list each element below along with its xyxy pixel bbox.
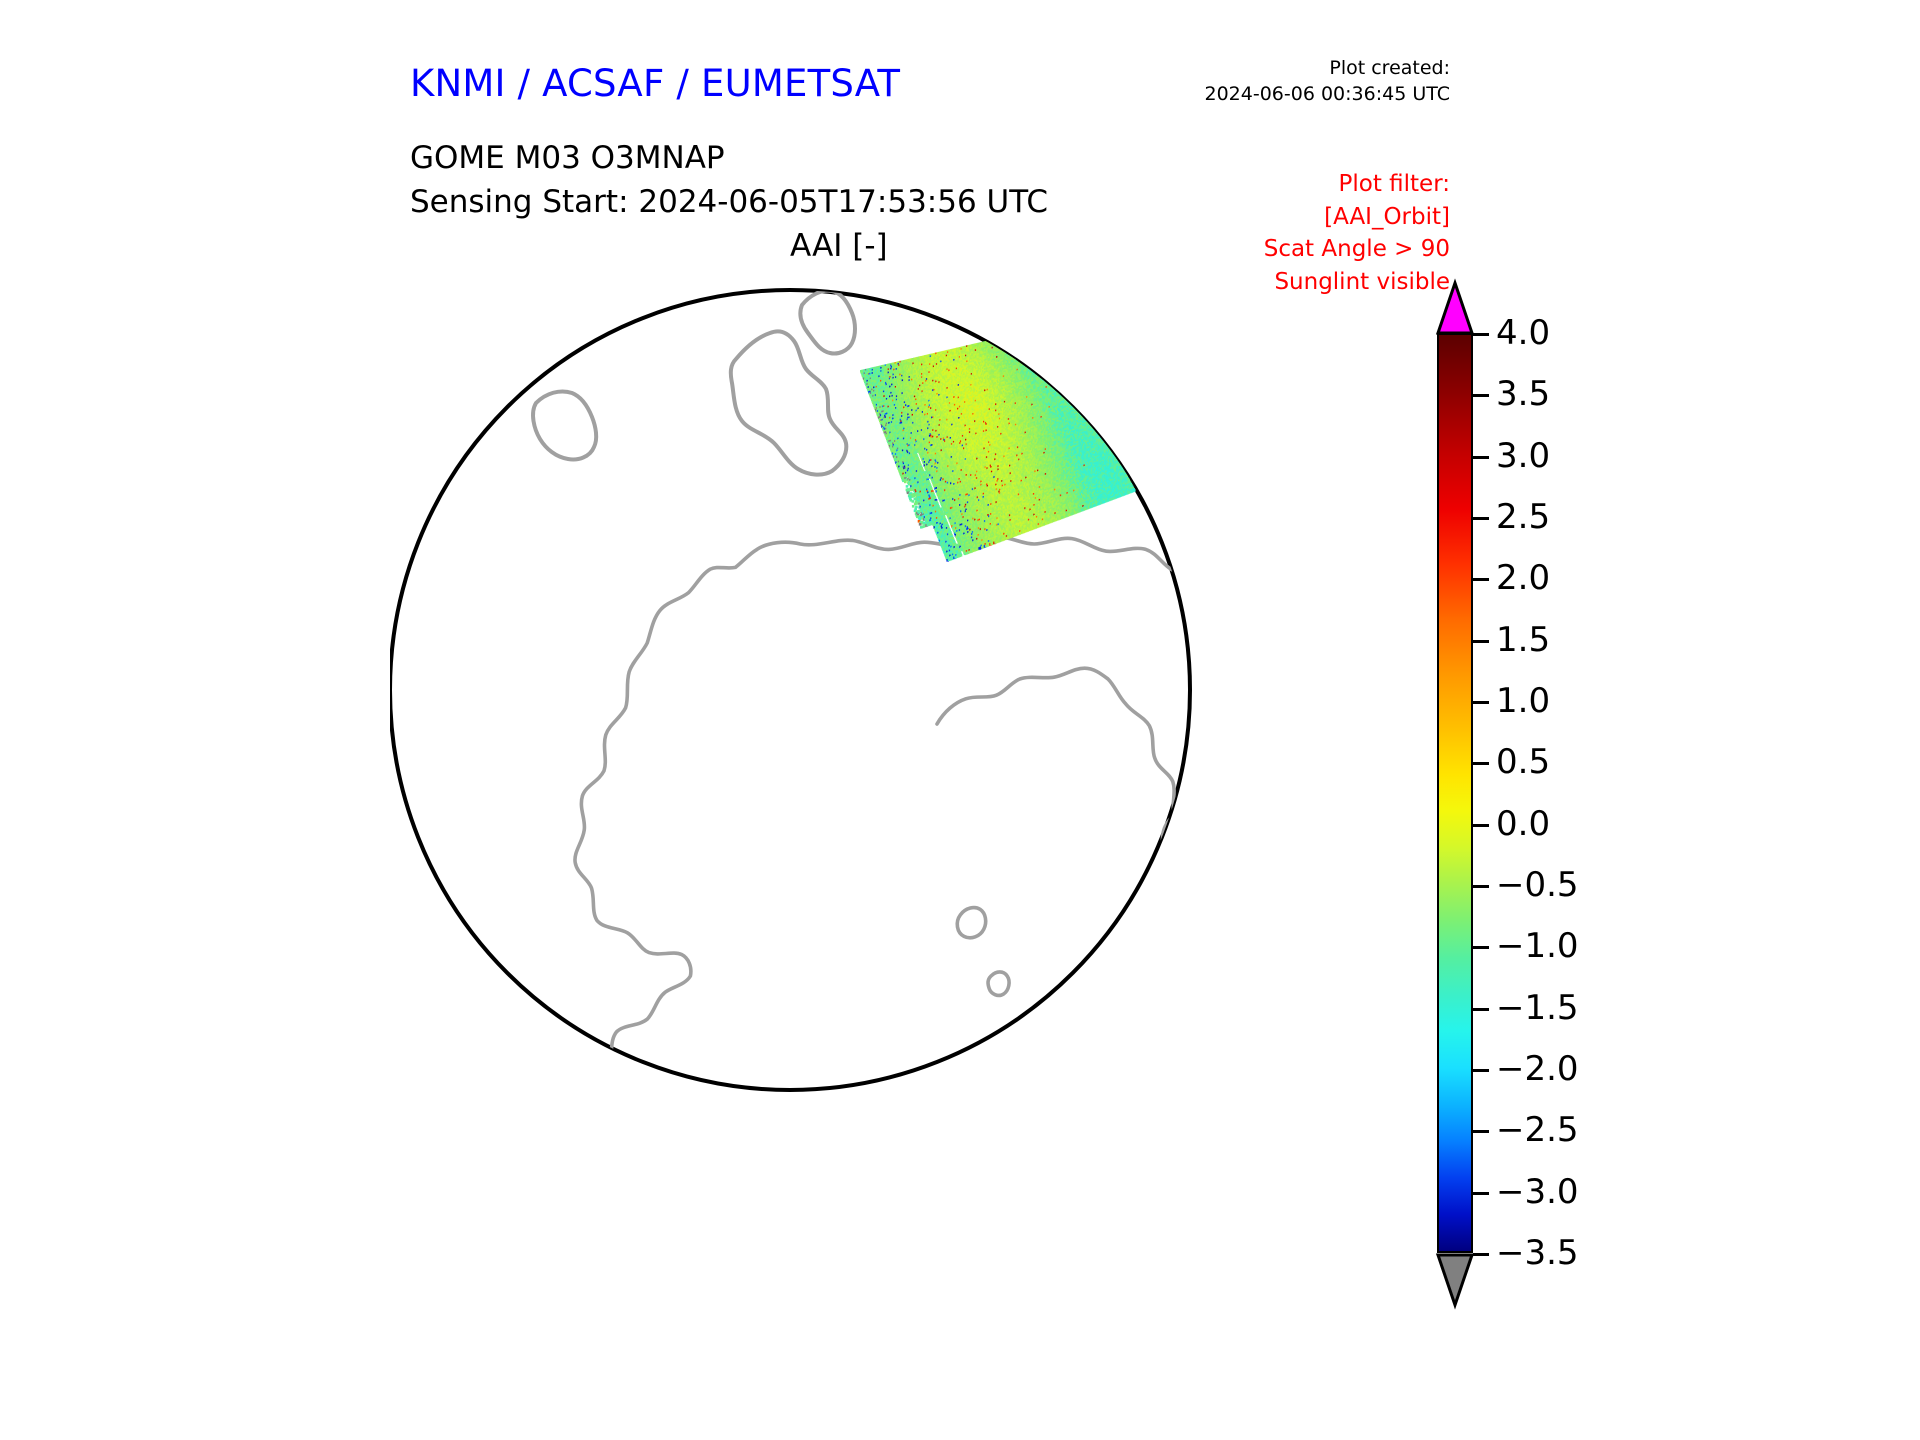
swath-pixel [1041,345,1044,348]
swath-pixel [1045,344,1048,347]
swath-pixel [1026,337,1029,340]
swath-pixel [1012,348,1015,351]
swath-pixel [1030,332,1033,335]
swath-pixel [1032,337,1035,340]
swath-pixel [1058,361,1061,364]
swath-pixel [1030,345,1033,348]
swath-pixel [1054,353,1057,356]
swath-pixel [1034,354,1037,357]
swath-pixel [1029,347,1032,350]
swath-pixel [1062,366,1065,369]
swath-pixel [1050,372,1053,375]
swath-pixel [1006,348,1009,351]
swath-pixel [1028,344,1031,347]
swath-pixel [1048,345,1051,348]
swath-pixel [1047,332,1050,335]
swath-pixel [1061,367,1064,370]
swath-pixel [1047,345,1050,348]
swath-pixel [1040,357,1043,360]
swath-pixel [1044,336,1047,339]
swath-pixel [1030,351,1033,354]
swath-pixel [1040,348,1043,351]
swath-pixel [1025,343,1028,346]
swath-pixel [1035,329,1038,332]
swath-pixel [1038,353,1041,356]
swath-pixel [1046,340,1049,343]
swath-pixel [1040,359,1043,362]
swath-pixel [1055,353,1058,356]
swath-pixel [1042,342,1045,345]
swath-pixel [1028,350,1031,353]
swath-pixel [1035,360,1038,363]
swath-pixel [1040,343,1043,346]
swath-pixel [1001,345,1004,348]
swath-pixel [1022,332,1025,335]
swath-pixel [1034,340,1037,343]
swath-pixel [1058,367,1061,370]
swath-pixel [1049,347,1052,350]
swath-pixel [1036,368,1039,371]
swath-pixel [1038,329,1041,332]
swath-pixel [1060,359,1063,362]
swath-pixel [1054,362,1057,365]
swath-pixel [1022,350,1025,353]
swath-pixel [1043,352,1046,355]
swath-pixel [1019,333,1022,336]
swath-pixel [1033,330,1036,333]
swath-pixel [1033,351,1036,354]
swath-pixel [1049,358,1052,361]
swath-pixel [1013,339,1016,342]
swath-pixel [1060,356,1063,359]
swath-pixel [1033,346,1036,349]
swath-pixel [1019,340,1022,343]
swath-pixel [1025,361,1028,364]
swath-pixel [1025,332,1028,335]
swath-pixel [1039,357,1042,360]
swath-pixel [1046,368,1049,371]
swath-pixel [1007,342,1010,345]
swath-pixel [1043,340,1046,343]
swath-pixel [1029,331,1032,334]
swath-pixel [1009,343,1012,346]
swath-pixel [1045,333,1048,336]
swath-pixel [1016,351,1019,354]
swath-pixel [1031,337,1034,340]
swath-pixel [1043,355,1046,358]
swath-pixel [1044,340,1047,343]
swath-pixel [1043,336,1046,339]
swath-pixel [1004,338,1007,341]
swath-pixel [1048,343,1051,346]
swath-pixel [1000,341,1003,344]
swath-pixel [1051,346,1054,349]
swath-pixel [1019,342,1022,345]
swath-pixel [1018,346,1021,349]
swath-pixel [1041,348,1044,351]
swath-pixel [1023,351,1026,354]
swath-pixel [1023,338,1026,341]
swath-pixel [1023,341,1026,344]
swath-pixel [1026,355,1029,358]
swath-pixel [1024,339,1027,342]
swath-pixel [1018,336,1021,339]
swath-pixel [1045,369,1048,372]
swath-pixel [1015,355,1018,358]
swath-pixel [1021,334,1024,337]
swath-pixel [1005,348,1008,351]
swath-pixel [1043,330,1046,333]
swath-pixel [1017,347,1020,350]
swath-pixel [1038,362,1041,365]
swath-pixel [1052,358,1055,361]
swath-pixel [1027,356,1030,359]
swath-pixel [1031,364,1034,367]
swath-pixel [1043,372,1046,375]
swath-pixel [1058,368,1061,371]
swath-pixel [1020,333,1023,336]
swath-pixel [1034,335,1037,338]
swath-pixel [1008,349,1011,352]
swath-pixel [991,340,994,343]
swath-pixel [1041,355,1044,358]
swath-pixel [1035,364,1038,367]
swath-pixel [997,338,1000,341]
swath-pixel [1050,370,1053,373]
swath-pixel [1036,339,1039,342]
swath-pixel [1010,344,1013,347]
swath-pixel [1026,360,1029,363]
swath-pixel [1056,354,1059,357]
swath-pixel [1032,346,1035,349]
swath-pixel [1003,343,1006,346]
swath-pixel [1034,338,1037,341]
swath-pixel [1054,346,1057,349]
swath-pixel [1033,362,1036,365]
swath-pixel [1040,364,1043,367]
swath-pixel [1048,364,1051,367]
swath-pixel [1039,351,1042,354]
swath-pixel [1024,336,1027,339]
swath-pixel [1057,364,1060,367]
swath-pixel [1026,333,1029,336]
swath-pixel [1033,349,1036,352]
swath-pixel [1016,354,1019,357]
swath-pixel [1019,335,1022,338]
swath-pixel [1028,347,1031,350]
swath-pixel [1046,367,1049,370]
swath-pixel [1013,335,1016,338]
swath-pixel [1047,362,1050,365]
swath-pixel [1053,357,1056,360]
swath-pixel [1059,361,1062,364]
swath-pixel [998,344,1001,347]
swath-pixel [1043,359,1046,362]
swath-pixel [1050,352,1053,355]
swath-pixel [1007,345,1010,348]
swath-pixel [1004,344,1007,347]
swath-pixel [1006,338,1009,341]
swath-pixel [1036,358,1039,361]
swath-pixel [1049,355,1052,358]
swath-pixel [1009,335,1012,338]
swath-pixel [1038,333,1041,336]
swath-pixel [1014,340,1017,343]
swath-pixel [1024,335,1027,338]
swath-pixel [1033,331,1036,334]
swath-pixel [1039,372,1042,375]
swath-pixel [1049,369,1052,372]
swath-pixel [1041,367,1044,370]
swath-pixel [1021,357,1024,360]
swath-pixel [1010,347,1013,350]
swath-pixel [1036,354,1039,357]
swath-pixel [1064,364,1067,367]
swath-pixel [1040,338,1043,341]
swath-pixel [1024,361,1027,364]
swath-pixel [1047,334,1050,337]
swath-pixel [1021,350,1024,353]
swath-pixel [1035,342,1038,345]
swath-pixel [1021,353,1024,356]
swath-pixel [1057,361,1060,364]
swath-pixel [1049,340,1052,343]
swath-pixel [1050,356,1053,359]
swath-pixel [1036,331,1039,334]
swath-pixel [1042,374,1045,377]
swath-pixel [1051,369,1054,372]
swath-pixel [1005,347,1008,350]
swath-pixel [1047,364,1050,367]
swath-pixel [1033,359,1036,362]
swath-pixel [1034,350,1037,353]
swath-pixel [1017,337,1020,340]
swath-pixel [1039,356,1042,359]
swath-pixel [1042,332,1045,335]
swath-pixel [1041,339,1044,342]
swath-pixel [1054,349,1057,352]
swath-pixel [1042,339,1045,342]
swath-pixel [1031,343,1034,346]
swath-pixel [1048,352,1051,355]
swath-pixel [1016,338,1019,341]
swath-pixel [1025,345,1028,348]
swath-pixel [1045,334,1048,337]
swath-pixel [1037,359,1040,362]
swath-pixel [1026,356,1029,359]
swath-pixel [1008,344,1011,347]
swath-pixel [1044,356,1047,359]
swath-pixel [1056,362,1059,365]
swath-pixel [1044,346,1047,349]
swath-pixel [1058,370,1061,373]
swath-pixel [1030,358,1033,361]
swath-pixel [1035,345,1038,348]
swath-pixel [1024,338,1027,341]
swath-pixel [1051,372,1054,375]
swath-pixel [1041,358,1044,361]
swath-pixel [1040,333,1043,336]
swath-pixel [1053,352,1056,355]
swath-pixel [1031,340,1034,343]
swath-pixel [1051,364,1054,367]
swath-pixel [1035,361,1038,364]
swath-pixel [1054,366,1057,369]
swath-pixel [1044,369,1047,372]
swath-pixel [1047,365,1050,368]
dataset-title: GOME M03 O3MNAP [410,140,725,176]
swath-pixel [1050,341,1053,344]
swath-pixel [1032,331,1035,334]
swath-pixel [1030,365,1033,368]
swath-pixel [1007,337,1010,340]
swath-pixel [1015,346,1018,349]
swath-pixel [1048,371,1051,374]
swath-pixel [1034,357,1037,360]
swath-pixel [1013,337,1016,340]
swath-pixel [1046,338,1049,341]
swath-pixel [1041,328,1044,331]
swath-pixel [1051,363,1054,366]
swath-pixel [1020,353,1023,356]
swath-pixel [1042,359,1045,362]
swath-pixel [1041,337,1044,340]
swath-pixel [998,342,1001,345]
swath-pixel [1017,338,1020,341]
swath-pixel [1032,333,1035,336]
swath-pixel [1020,340,1023,343]
swath-pixel [1035,337,1038,340]
swath-pixel [1007,348,1010,351]
swath-pixel [996,341,999,344]
swath-pixel [1041,329,1044,332]
swath-pixel [1026,352,1029,355]
swath-pixel [1041,354,1044,357]
swath-pixel [1041,373,1044,376]
swath-pixel [1043,362,1046,365]
swath-pixel [1049,363,1052,366]
swath-pixel [1027,343,1030,346]
swath-pixel [1054,351,1057,354]
swath-pixel [1021,344,1024,347]
swath-pixel [1022,334,1025,337]
swath-pixel [1055,359,1058,362]
swath-pixel [1058,365,1061,368]
swath-pixel [1040,335,1043,338]
swath-pixel [1041,357,1044,360]
swath-pixel [1034,353,1037,356]
swath-pixel [1022,344,1025,347]
swath-pixel [1003,341,1006,344]
swath-pixel [1016,353,1019,356]
swath-pixel [1009,338,1012,341]
swath-pixel [1042,346,1045,349]
swath-pixel [1049,346,1052,349]
swath-pixel [1018,339,1021,342]
swath-pixel [1018,345,1021,348]
swath-pixel [1047,357,1050,360]
swath-pixel [1021,347,1024,350]
swath-pixel [1056,370,1059,373]
swath-pixel [1039,340,1042,343]
swath-pixel [1016,344,1019,347]
swath-pixel [1040,334,1043,337]
swath-pixel [1022,357,1025,360]
swath-pixel [1028,357,1031,360]
swath-pixel [1059,359,1062,362]
swath-pixel [1019,349,1022,352]
swath-pixel [1034,359,1037,362]
swath-pixel [1036,359,1039,362]
swath-pixel [1040,330,1043,333]
swath-pixel [1037,335,1040,338]
swath-pixel [1030,357,1033,360]
swath-pixel [1017,334,1020,337]
swath-pixel [1047,358,1050,361]
swath-pixel [1034,367,1037,370]
swath-pixel [1023,335,1026,338]
swath-pixel [1011,336,1014,339]
swath-pixel [1035,369,1038,372]
swath-pixel [1047,349,1050,352]
swath-pixel [1030,342,1033,345]
swath-pixel [1001,340,1004,343]
plot-filter-name: [AAI_Orbit] [1050,201,1450,234]
plot-filter-label: Plot filter: [1050,168,1450,201]
swath-pixel [1012,343,1015,346]
swath-pixel [1029,351,1032,354]
swath-pixel [1034,332,1037,335]
swath-pixel [1018,341,1021,344]
swath-pixel [1035,344,1038,347]
swath-pixel [1036,362,1039,365]
swath-pixel [1029,350,1032,353]
swath-pixel [1053,351,1056,354]
swath-pixel [1051,341,1054,344]
swath-pixel [1035,348,1038,351]
swath-pixel [1029,363,1032,366]
swath-pixel [1020,352,1023,355]
swath-pixel [1020,347,1023,350]
swath-pixel [1021,355,1024,358]
swath-pixel [1041,368,1044,371]
swath-pixel [1027,335,1030,338]
swath-pixel [1049,342,1052,345]
swath-pixel [1038,343,1041,346]
swath-pixel [1051,366,1054,369]
swath-pixel [1031,356,1034,359]
swath-pixel [1064,367,1067,370]
swath-pixel [1031,355,1034,358]
swath-pixel [1040,366,1043,369]
swath-pixel [1041,361,1044,364]
swath-pixel [1044,347,1047,350]
swath-pixel [1049,336,1052,339]
swath-pixel [1021,337,1024,340]
swath-pixel [1045,340,1048,343]
swath-pixel [1042,355,1045,358]
swath-pixel [1038,359,1041,362]
swath-pixel [1028,342,1031,345]
swath-pixel [1007,346,1010,349]
swath-pixel [1012,341,1015,344]
swath-pixel [1036,355,1039,358]
swath-pixel [1025,359,1028,362]
swath-pixel [1045,331,1048,334]
swath-pixel [1024,333,1027,336]
swath-pixel [1054,364,1057,367]
swath-pixel [1039,370,1042,373]
